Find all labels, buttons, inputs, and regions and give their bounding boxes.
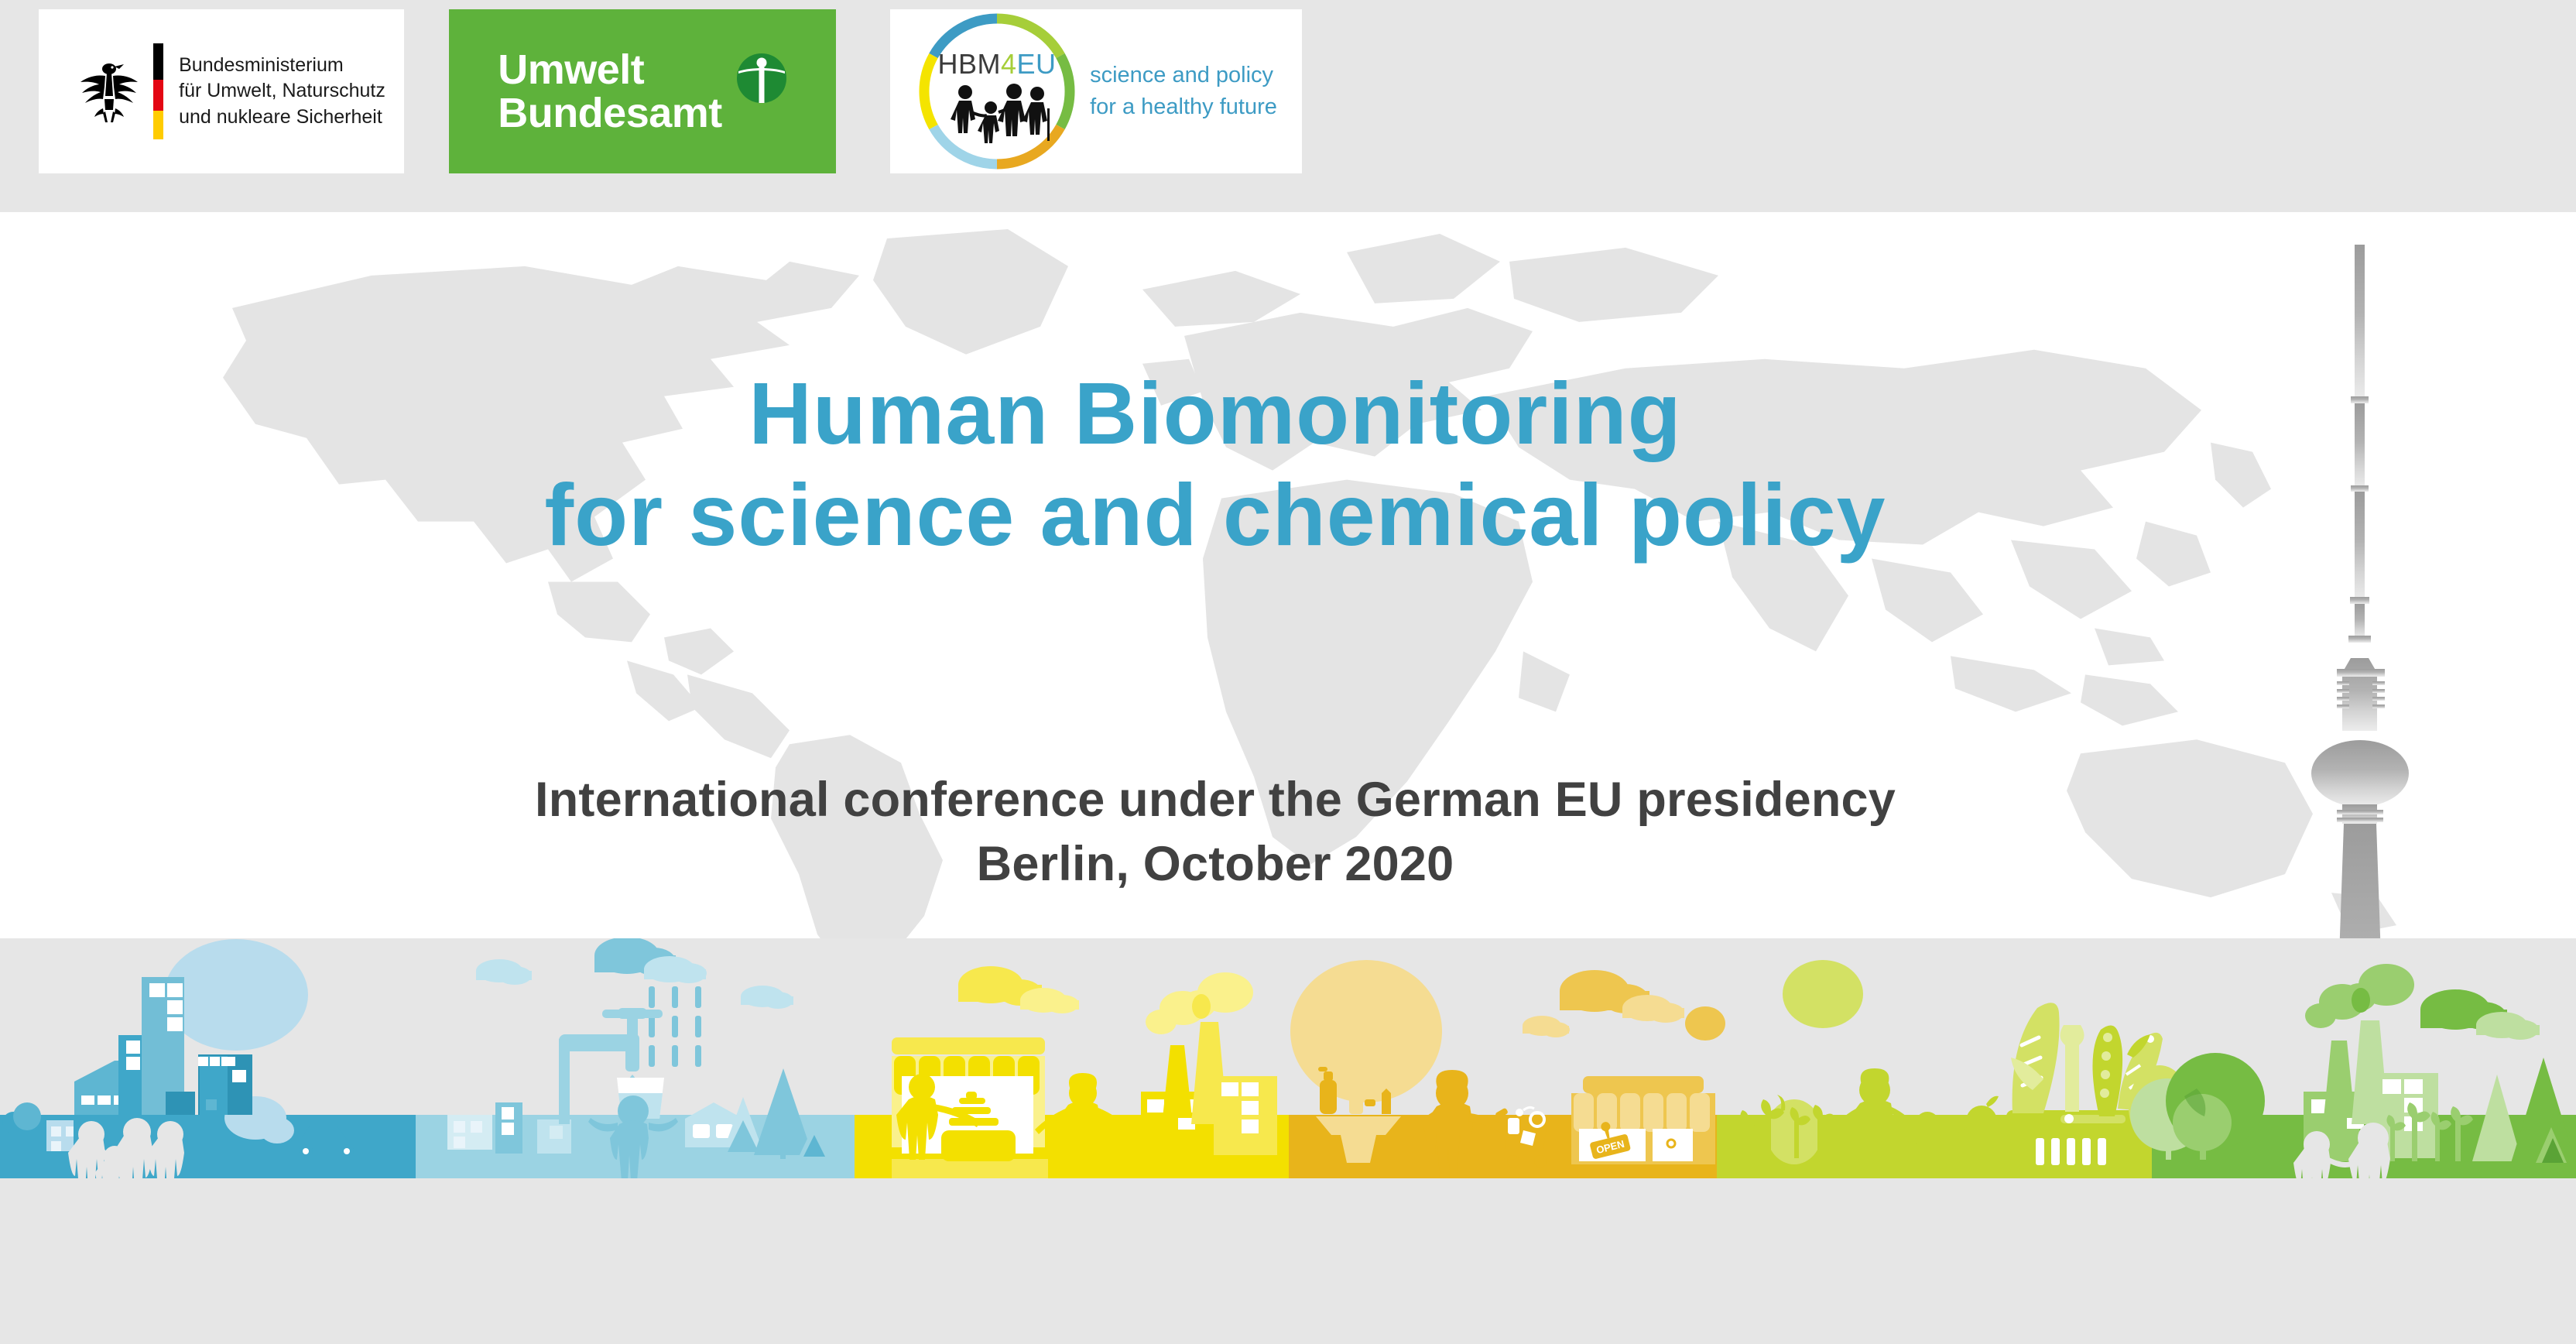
hbm4eu-emblem-icon: HBM4EU <box>915 9 1079 173</box>
page-title: Human Biomonitoring for science and chem… <box>0 363 2430 566</box>
uba-human-leaf-icon <box>736 53 787 104</box>
hbm4eu-logo: HBM4EU science and policy for a health <box>890 9 1302 173</box>
illustration-segment-consumer: OPEN <box>1289 960 1717 1178</box>
hbm4eu-tagline-line-2: for a healthy future <box>1090 91 1277 123</box>
illustration-segment-food <box>1685 960 2191 1178</box>
title-block: Human Biomonitoring for science and chem… <box>0 212 2576 938</box>
bmu-line-2: für Umwelt, Naturschutz <box>179 78 385 104</box>
title-stage: Human Biomonitoring for science and chem… <box>0 212 2576 938</box>
subtitle-line-1: International conference under the Germa… <box>0 768 2430 832</box>
logo-header-band: Bundesministerium für Umwelt, Naturschut… <box>0 0 2576 212</box>
uba-line-2: Bundesamt <box>498 91 722 135</box>
german-flag-bar-icon <box>153 43 163 139</box>
uba-logo: Umwelt Bundesamt <box>449 9 836 173</box>
hbm4eu-wordmark: HBM4EU <box>938 48 1057 80</box>
bmu-line-3: und nukleare Sicherheit <box>179 105 385 130</box>
illustration-segment-water <box>416 938 855 1178</box>
uba-line-1: Umwelt <box>498 48 722 91</box>
bmu-logo-text: Bundesministerium für Umwelt, Naturschut… <box>179 53 385 130</box>
footer-band <box>0 1178 2576 1344</box>
title-line-1: Human Biomonitoring <box>0 363 2430 465</box>
hbm4eu-tagline: science and policy for a healthy future <box>1090 60 1277 123</box>
hbm4eu-tagline-line-1: science and policy <box>1090 60 1277 91</box>
illustration-segment-city-air <box>0 939 416 1178</box>
conference-title-slide: Bundesministerium für Umwelt, Naturschut… <box>0 0 2576 1344</box>
illustration-segment-nature <box>2130 964 2576 1178</box>
illustration-segment-industry <box>855 966 1289 1178</box>
federal-eagle-icon <box>79 56 139 127</box>
bmu-line-1: Bundesministerium <box>179 53 385 78</box>
page-subtitle: International conference under the Germa… <box>0 768 2430 896</box>
bmu-logo: Bundesministerium für Umwelt, Naturschut… <box>39 9 404 173</box>
title-line-2: for science and chemical policy <box>0 465 2430 566</box>
subtitle-line-2: Berlin, October 2020 <box>0 832 2430 897</box>
lifecycle-illustration-band: OPEN <box>0 938 2576 1178</box>
uba-logo-text: Umwelt Bundesamt <box>498 48 722 135</box>
